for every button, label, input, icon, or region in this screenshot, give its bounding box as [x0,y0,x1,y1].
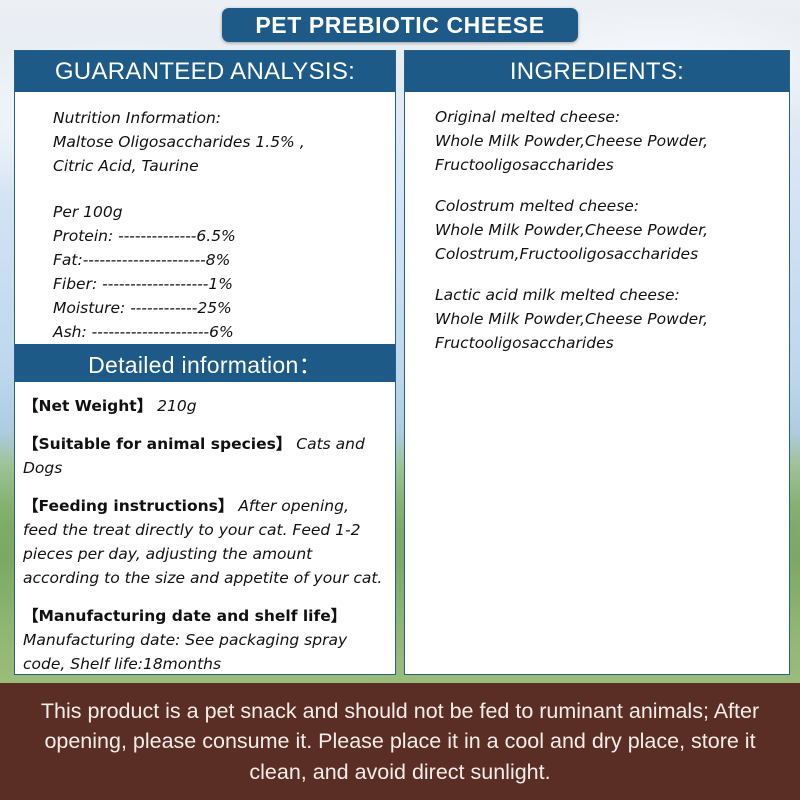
nutrition-line-2: Citric Acid, Taurine [53,154,381,178]
analysis-row: Fiber: -------------------1% [53,272,381,296]
ingredient-group-colostrum: Colostrum melted cheese: Whole Milk Powd… [435,194,775,266]
detailed-information-header: Detailed information： [15,344,395,382]
serving-label: Per 100g [53,200,381,224]
ingredient-line: Colostrum,Fructooligosaccharides [435,242,775,266]
warning-text: This product is a pet snack and should n… [39,696,761,788]
ingredient-group-name: Colostrum melted cheese: [435,194,775,218]
page-title-banner: PET PREBIOTIC CHEESE [222,8,578,42]
analysis-dashes: ---------------------- [83,251,206,269]
nutrition-block: Nutrition Information: Maltose Oligosacc… [53,106,381,178]
ingredient-line: Whole Milk Powder,Cheese Powder, [435,307,775,331]
analysis-nutrient: Ash: [53,323,87,341]
analysis-value: 8% [206,251,231,269]
detail-value: 210g [152,397,196,415]
ingredient-line: Fructooligosaccharides [435,153,775,177]
analysis-value: 6% [209,323,234,341]
ingredients-panel: INGREDIENTS: Original melted cheese: Who… [404,50,790,675]
analysis-nutrient: Fat: [53,251,83,269]
analysis-nutrient: Moisture: [53,299,125,317]
analysis-value: 6.5% [196,227,235,245]
detail-label: 【Net Weight】 [23,397,152,415]
ingredients-header: INGREDIENTS: [405,51,789,92]
page-title: PET PREBIOTIC CHEESE [255,12,544,39]
analysis-nutrient: Fiber: [53,275,97,293]
analysis-dashes: ------------ [125,299,197,317]
ingredient-group-original: Original melted cheese: Whole Milk Powde… [435,105,775,177]
ingredient-line: Whole Milk Powder,Cheese Powder, [435,129,775,153]
analysis-value: 25% [197,299,231,317]
analysis-row: Ash: ---------------------6% [53,320,381,344]
warning-banner: This product is a pet snack and should n… [0,683,800,800]
detail-item-feeding: 【Feeding instructions】 After opening, fe… [23,494,385,590]
ingredient-group-lactic-acid: Lactic acid milk melted cheese: Whole Mi… [435,283,775,355]
analysis-value: 1% [208,275,233,293]
detail-item-shelf-life: 【Manufacturing date and shelf life】 Manu… [23,604,385,676]
analysis-row: Protein: --------------6.5% [53,224,381,248]
detail-label: 【Feeding instructions】 [23,497,233,515]
detail-label: 【Manufacturing date and shelf life】 [23,607,346,625]
analysis-dashes: ------------------- [97,275,208,293]
analysis-row: Fat:----------------------8% [53,248,381,272]
ingredient-group-name: Lactic acid milk melted cheese: [435,283,775,307]
detail-value: Manufacturing date: See packaging spray … [23,631,347,673]
analysis-dashes: -------------- [113,227,196,245]
ingredient-group-name: Original melted cheese: [435,105,775,129]
nutrition-line-1: Maltose Oligosaccharides 1.5% , [53,130,381,154]
analysis-dashes: --------------------- [87,323,209,341]
detail-label: 【Suitable for animal species】 [23,435,291,453]
analysis-row: Moisture: ------------25% [53,296,381,320]
guaranteed-analysis-panel: GUARANTEED ANALYSIS: Nutrition Informati… [14,50,396,675]
detailed-information-body: 【Net Weight】 210g 【Suitable for animal s… [15,382,395,676]
detail-item-species: 【Suitable for animal species】 Cats and D… [23,432,385,480]
guaranteed-analysis-body: Nutrition Information: Maltose Oligosacc… [15,92,395,344]
ingredient-line: Fructooligosaccharides [435,331,775,355]
detail-item-net-weight: 【Net Weight】 210g [23,394,385,418]
analysis-table: Per 100g Protein: --------------6.5% Fat… [53,200,381,344]
analysis-nutrient: Protein: [53,227,113,245]
guaranteed-analysis-header: GUARANTEED ANALYSIS: [15,51,395,92]
ingredient-line: Whole Milk Powder,Cheese Powder, [435,218,775,242]
ingredients-body: Original melted cheese: Whole Milk Powde… [405,92,789,355]
nutrition-heading: Nutrition Information: [53,106,381,130]
